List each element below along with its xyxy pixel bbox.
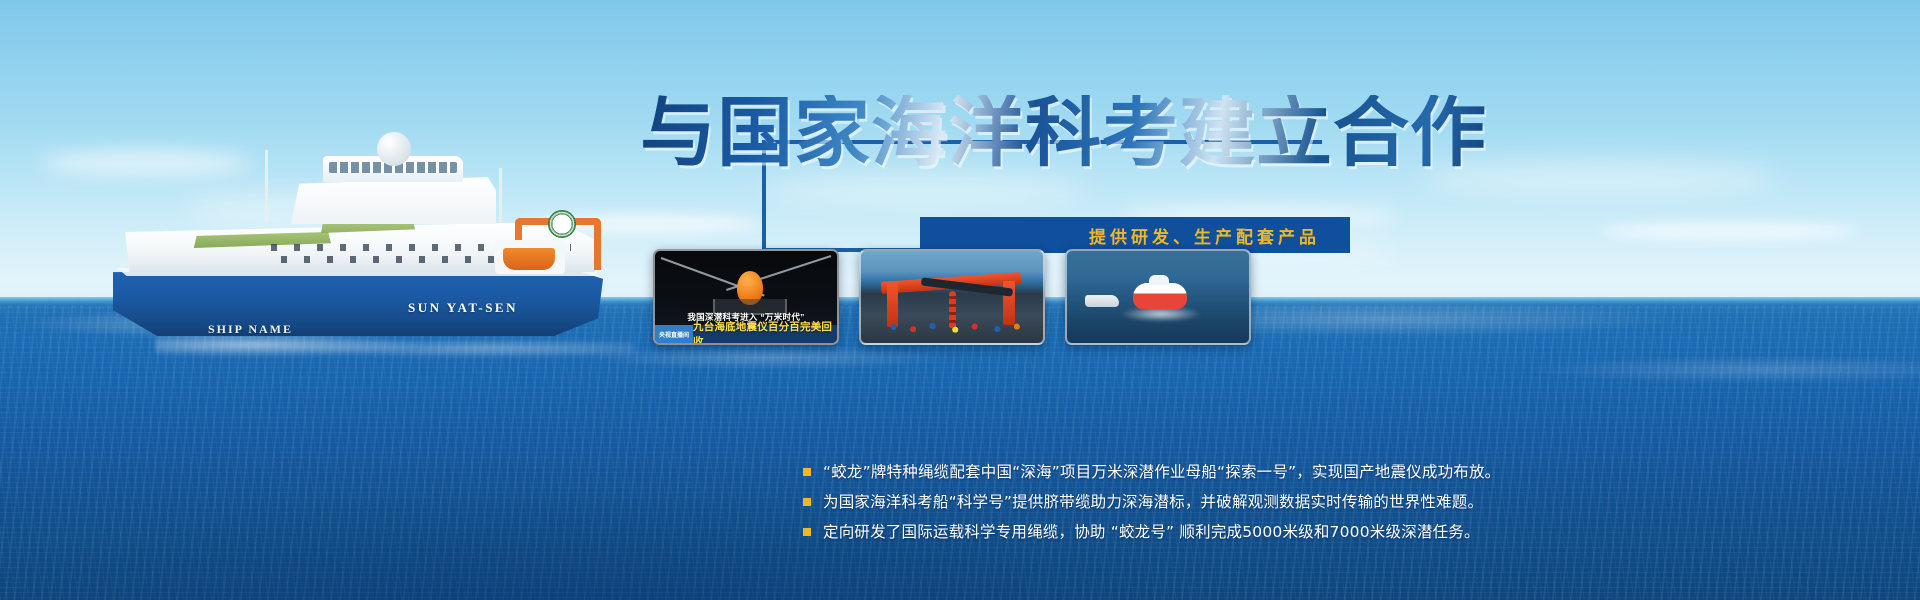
bullet-square-icon (803, 498, 811, 506)
thumbnail-caption-bar: 央视直播间 九台海底地震仪百分百完美回收 (655, 325, 837, 343)
radar-dome (377, 132, 411, 166)
list-item-text: 定向研发了国际运载科学专用绳缆，协助 “蛟龙号” 顺利完成5000米级和7000… (823, 520, 1480, 545)
deep-sea-launch-thumbnail[interactable]: 我国深潜科考进入 “万米时代” 央视直播间 九台海底地震仪百分百完美回收 (653, 249, 839, 345)
ship-name-left: SHIP NAME (208, 322, 293, 337)
ship-emblem-icon (548, 210, 576, 238)
bullet-square-icon (803, 528, 811, 536)
submersible-at-sea-thumbnail[interactable] (1065, 249, 1251, 345)
list-item: “蛟龙”牌特种绳缆配套中国“深海”项目万米深潜作业母船“探索一号”，实现国产地震… (803, 460, 1613, 485)
support-boat (1085, 295, 1119, 307)
subtitle-badge-label: 提供研发、生产配套产品 (1089, 223, 1350, 248)
list-item: 定向研发了国际运载科学专用绳缆，协助 “蛟龙号” 顺利完成5000米级和7000… (803, 520, 1613, 545)
deck-crane-crew-thumbnail[interactable] (859, 249, 1045, 345)
bullet-square-icon (803, 468, 811, 476)
cloud (1600, 222, 1860, 240)
ship-deckhouse (291, 176, 496, 224)
ocean-research-banner: SHIP NAME SUN YAT-SEN 与国家海洋科考建立合作 提供研发、生… (0, 0, 1920, 600)
deck-crew (871, 311, 1033, 337)
thumbnail-gallery: 我国深潜科考进入 “万米时代” 央视直播间 九台海底地震仪百分百完美回收 (653, 249, 1251, 345)
submersible-conning-tower (1149, 275, 1169, 285)
research-vessel: SHIP NAME SUN YAT-SEN (95, 140, 615, 370)
achievements-list: “蛟龙”牌特种绳缆配套中国“深海”项目万米深潜作业母船“探索一号”，实现国产地震… (803, 452, 1613, 559)
page-title: 与国家海洋科考建立合作 (640, 95, 1487, 171)
ship-mast (265, 150, 268, 222)
list-item-text: 为国家海洋科考船“科学号”提供脐带缆助力深海潜标，并破解观测数据实时传输的世界性… (823, 490, 1483, 515)
ship-name-right: SUN YAT-SEN (408, 300, 518, 316)
list-item-text: “蛟龙”牌特种绳缆配套中国“深海”项目万米深潜作业母船“探索一号”，实现国产地震… (823, 460, 1500, 485)
thumbnail-caption-main: 九台海底地震仪百分百完美回收 (693, 319, 837, 345)
subtitle-badge: 提供研发、生产配套产品 (920, 217, 1350, 253)
ship-hull (113, 268, 603, 336)
broadcast-tag: 央视直播间 (655, 330, 693, 339)
lifeboat (503, 248, 555, 270)
ship-mast (499, 168, 502, 222)
submersible-vehicle (1133, 283, 1187, 309)
list-item: 为国家海洋科考船“科学号”提供脐带缆助力深海潜标，并破解观测数据实时传输的世界性… (803, 490, 1613, 515)
